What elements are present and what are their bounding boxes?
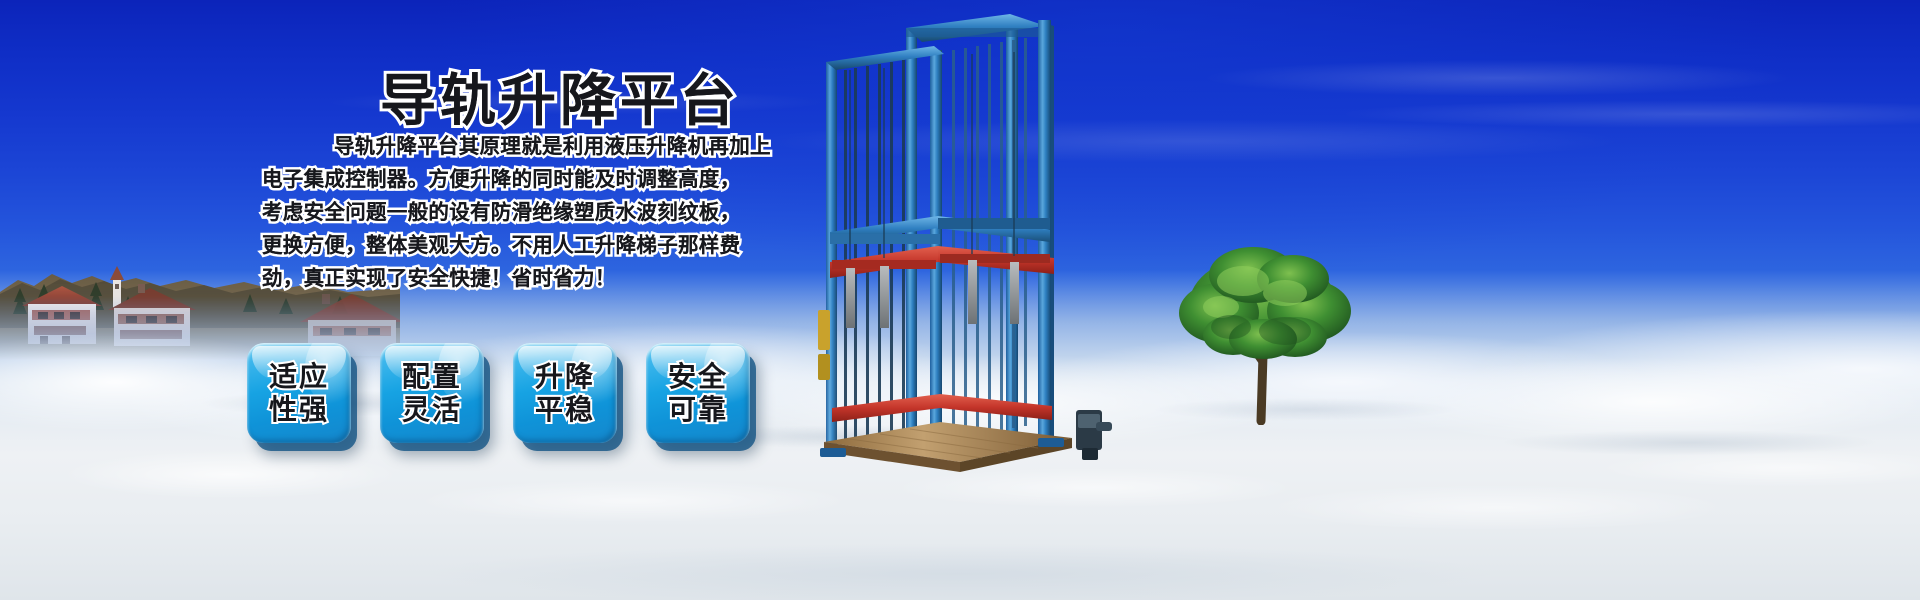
copy-block: 导轨升降平台 导轨升降平台 导轨升降平台其原理就是利用液压升降机再加上 导轨升降…	[0, 0, 900, 600]
paragraph-line: 更换方便，整体美观大方。不用人工升降梯子那样费 更换方便，整体美观大方。不用人工…	[262, 229, 782, 262]
paragraph-line-fill: 电子集成控制器。方便升降的同时能及时调整高度，	[262, 163, 740, 196]
product-banner: 导轨升降平台 导轨升降平台 导轨升降平台其原理就是利用液压升降机再加上 导轨升降…	[0, 0, 1920, 600]
feature-button-label-line1: 适应	[269, 360, 329, 393]
feature-button-label-line2: 灵活	[402, 393, 462, 426]
paragraph-line: 考虑安全问题一般的设有防滑绝缘塑质水波刻纹板， 考虑安全问题一般的设有防滑绝缘塑…	[262, 196, 782, 229]
feature-button-label-line2: 平稳	[535, 393, 595, 426]
feature-button-smooth-lifting[interactable]: 升降 平稳	[513, 343, 617, 443]
paragraph-line: 电子集成控制器。方便升降的同时能及时调整高度， 电子集成控制器。方便升降的同时能…	[262, 163, 782, 196]
paragraph-line-fill: 考虑安全问题一般的设有防滑绝缘塑质水波刻纹板，	[262, 196, 740, 229]
paragraph-line: 劲，真正实现了安全快捷！省时省力！ 劲，真正实现了安全快捷！省时省力！	[262, 262, 782, 295]
feature-button-safety[interactable]: 安全 可靠	[646, 343, 750, 443]
paragraph-line-fill: 更换方便，整体美观大方。不用人工升降梯子那样费	[262, 229, 740, 262]
feature-button-label-line2: 可靠	[668, 393, 728, 426]
feature-button-configuration[interactable]: 配置 灵活	[380, 343, 484, 443]
feature-button-label-line1: 安全	[668, 360, 728, 393]
feature-button-label-line1: 配置	[402, 360, 462, 393]
description-paragraph: 导轨升降平台其原理就是利用液压升降机再加上 导轨升降平台其原理就是利用液压升降机…	[262, 130, 782, 295]
paragraph-line-fill: 导轨升降平台其原理就是利用液压升降机再加上	[334, 130, 771, 163]
feature-button-label-line1: 升降	[535, 360, 595, 393]
page-title-overlay: 导轨升降平台	[380, 56, 740, 137]
feature-button-label-line2: 性强	[269, 393, 329, 426]
paragraph-line: 导轨升降平台其原理就是利用液压升降机再加上 导轨升降平台其原理就是利用液压升降机…	[262, 130, 782, 163]
feature-button-row: 适应 性强 配置 灵活 升降 平稳 安全 可靠	[247, 343, 750, 443]
paragraph-line-fill: 劲，真正实现了安全快捷！省时省力！	[262, 262, 616, 295]
feature-button-adaptability[interactable]: 适应 性强	[247, 343, 351, 443]
